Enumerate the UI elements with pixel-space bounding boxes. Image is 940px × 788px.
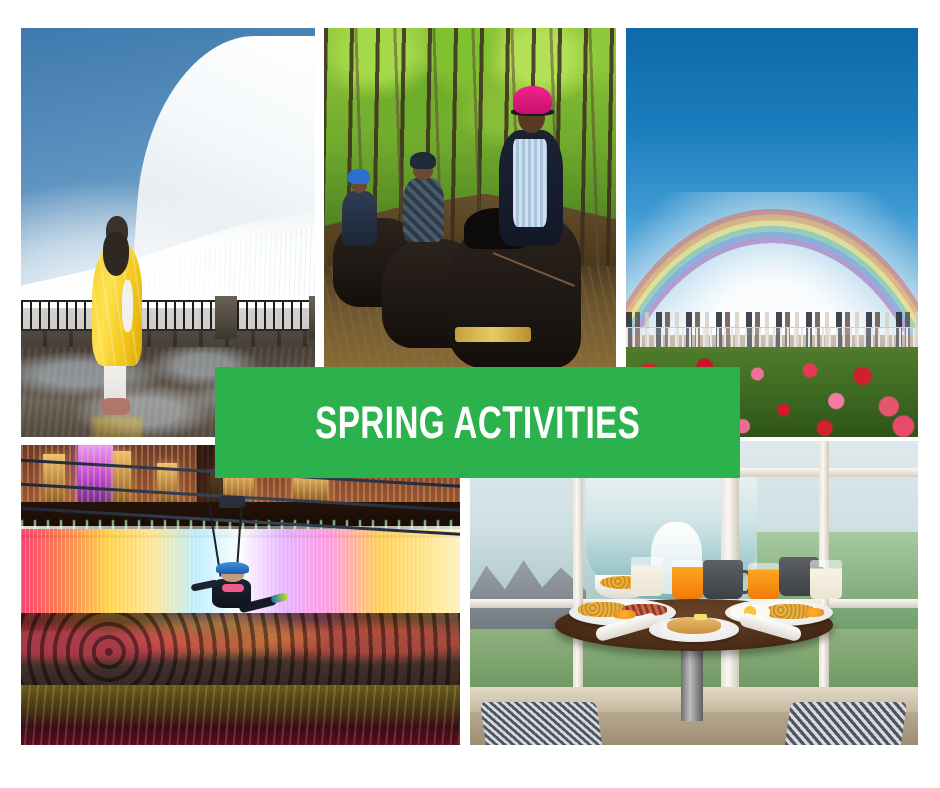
- pancakes: [667, 617, 721, 634]
- railing-post: [215, 296, 237, 339]
- river: [21, 685, 460, 745]
- photo-collage: SPRING ACTIVITIES: [0, 0, 940, 788]
- breakfast-scene: [470, 441, 918, 745]
- riding-helmet-icon: [513, 86, 552, 114]
- riding-helmet-icon: [410, 152, 436, 169]
- photo-horseback-riding[interactable]: [324, 28, 616, 368]
- milk-glass: [810, 560, 841, 600]
- title-banner: SPRING ACTIVITIES: [215, 367, 740, 478]
- zipline-scene: [21, 445, 460, 745]
- poncho-reflection: [92, 417, 142, 437]
- railing-post: [309, 296, 315, 339]
- rider-pink-helmet: [499, 130, 563, 246]
- horse-bridle: [455, 327, 531, 342]
- railing: [626, 327, 918, 348]
- torso: [403, 178, 444, 243]
- photo-breakfast-view[interactable]: [470, 441, 918, 745]
- rider-blue-helmet: [342, 191, 377, 245]
- chair: [480, 702, 602, 745]
- zipline-rider: [192, 565, 275, 637]
- torso: [342, 191, 377, 245]
- orange-slice: [802, 608, 824, 617]
- orange-juice-glass: [672, 560, 703, 600]
- horseback-scene: [324, 28, 616, 368]
- striped-shirt: [513, 139, 546, 227]
- rider-plaid-shirt: [403, 178, 444, 243]
- coffee-mug: [703, 560, 743, 600]
- riding-helmet-icon: [348, 169, 370, 183]
- hair: [103, 232, 129, 276]
- person-in-poncho: [92, 216, 142, 416]
- pink-sleeve: [222, 584, 244, 591]
- milk-glass: [631, 557, 662, 597]
- arm: [122, 280, 133, 332]
- table-pedestal: [681, 642, 703, 721]
- safety-helmet-icon: [216, 562, 249, 574]
- page-title: SPRING ACTIVITIES: [315, 400, 640, 445]
- photo-zipline-night[interactable]: [21, 445, 460, 745]
- chair: [785, 702, 907, 745]
- butter-pat: [694, 614, 707, 620]
- observation-railing: [21, 300, 315, 331]
- window-frame-vertical: [573, 441, 583, 709]
- orange-juice-glass: [748, 563, 779, 599]
- sandals: [101, 398, 130, 414]
